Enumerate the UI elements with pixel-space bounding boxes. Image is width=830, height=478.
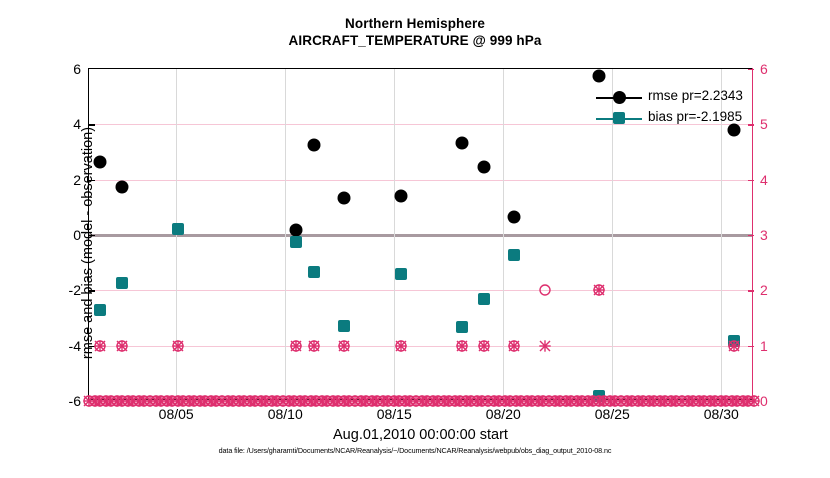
assimilated-obs-cross-icon bbox=[531, 395, 544, 408]
right-axis-tick-label: 2 bbox=[760, 282, 790, 298]
possible-obs-circle-icon bbox=[642, 395, 655, 408]
possible-obs-circle-icon bbox=[531, 395, 544, 408]
assimilated-obs-cross-icon bbox=[121, 395, 134, 408]
chart-title-line1: Northern Hemisphere bbox=[0, 16, 830, 31]
possible-obs-circle-icon bbox=[465, 395, 478, 408]
assimilated-obs-cross-icon bbox=[227, 395, 240, 408]
bias-data-point bbox=[508, 249, 520, 261]
bias-data-point bbox=[593, 390, 605, 402]
assimilated-obs-cross-icon bbox=[421, 395, 434, 408]
possible-obs-circle-icon bbox=[559, 395, 572, 408]
possible-obs-circle-icon bbox=[537, 395, 550, 408]
chart-title-line2: AIRCRAFT_TEMPERATURE @ 999 hPa bbox=[0, 33, 830, 48]
possible-obs-circle-icon bbox=[116, 395, 129, 408]
possible-obs-circle-icon bbox=[193, 395, 206, 408]
assimilated-obs-cross-icon bbox=[559, 395, 572, 408]
right-axis-tick-mark bbox=[748, 401, 754, 402]
right-axis-tick-mark bbox=[748, 180, 754, 181]
assimilated-obs-cross-icon bbox=[432, 395, 445, 408]
possible-obs-circle-icon bbox=[304, 395, 317, 408]
assimilated-obs-cross-icon bbox=[110, 395, 123, 408]
x-axis-tick-label: 08/30 bbox=[704, 406, 739, 422]
assimilated-obs-cross-icon bbox=[526, 395, 539, 408]
bias-data-point bbox=[172, 223, 184, 235]
assimilated-obs-cross-icon bbox=[216, 395, 229, 408]
assimilated-obs-cross-icon bbox=[548, 395, 561, 408]
possible-obs-circle-icon bbox=[243, 395, 256, 408]
possible-obs-circle-icon bbox=[337, 395, 350, 408]
left-axis-tick-label: 2 bbox=[43, 172, 81, 188]
assimilated-obs-cross-icon bbox=[360, 395, 373, 408]
gridline-vertical bbox=[285, 69, 286, 399]
possible-obs-circle-icon bbox=[437, 395, 450, 408]
left-axis-tick-label: 4 bbox=[43, 116, 81, 132]
assimilated-obs-cross-icon bbox=[243, 395, 256, 408]
assimilated-obs-cross-icon bbox=[631, 395, 644, 408]
possible-obs-circle-icon bbox=[454, 395, 467, 408]
assimilated-obs-cross-icon bbox=[304, 395, 317, 408]
plot-area: -6-4-20246 0123456 08/0508/1008/1508/200… bbox=[88, 68, 753, 400]
possible-obs-circle-icon bbox=[520, 395, 533, 408]
legend-label-rmse: rmse pr=2.2343 bbox=[648, 89, 743, 103]
rmse-data-point bbox=[394, 189, 407, 202]
bias-data-point bbox=[308, 266, 320, 278]
data-file-caption: data file: /Users/gharamti/Documents/NCA… bbox=[0, 446, 830, 455]
possible-obs-circle-icon bbox=[343, 395, 356, 408]
assimilated-obs-cross-icon bbox=[659, 395, 672, 408]
possible-obs-circle-icon bbox=[349, 395, 362, 408]
possible-obs-circle-icon bbox=[204, 395, 217, 408]
bias-data-point bbox=[395, 268, 407, 280]
possible-obs-circle-icon bbox=[199, 395, 212, 408]
assimilated-obs-cross-icon bbox=[454, 395, 467, 408]
rmse-data-point bbox=[307, 139, 320, 152]
assimilated-obs-cross-icon bbox=[576, 395, 589, 408]
assimilated-obs-cross-icon bbox=[637, 395, 650, 408]
assimilated-obs-cross-icon bbox=[537, 395, 550, 408]
assimilated-obs-cross-icon bbox=[138, 395, 151, 408]
assimilated-obs-cross-icon bbox=[642, 395, 655, 408]
bias-data-point bbox=[338, 320, 350, 332]
left-axis-tick-label: -6 bbox=[43, 393, 81, 409]
possible-obs-circle-icon bbox=[670, 395, 683, 408]
left-axis-tick-label: 0 bbox=[43, 227, 81, 243]
bias-data-point bbox=[290, 236, 302, 248]
gridline-horizontal bbox=[89, 290, 752, 291]
assimilated-obs-cross-icon bbox=[326, 395, 339, 408]
possible-obs-circle-icon bbox=[132, 395, 145, 408]
right-axis-tick-label: 5 bbox=[760, 116, 790, 132]
assimilated-obs-cross-icon bbox=[675, 395, 688, 408]
assimilated-obs-cross-icon bbox=[426, 395, 439, 408]
zero-reference-line bbox=[89, 234, 752, 237]
possible-obs-circle-icon bbox=[653, 395, 666, 408]
assimilated-obs-cross-icon bbox=[681, 395, 694, 408]
possible-obs-circle-icon bbox=[421, 395, 434, 408]
possible-obs-circle-icon bbox=[659, 395, 672, 408]
right-axis-tick-label: 6 bbox=[760, 61, 790, 77]
assimilated-obs-cross-icon bbox=[193, 395, 206, 408]
possible-obs-circle-icon bbox=[227, 395, 240, 408]
possible-obs-circle-icon bbox=[542, 395, 555, 408]
assimilated-obs-cross-icon bbox=[349, 395, 362, 408]
right-axis-tick-mark bbox=[748, 346, 754, 347]
right-axis-spine bbox=[752, 68, 753, 401]
bias-data-point bbox=[116, 277, 128, 289]
assimilated-obs-cross-icon bbox=[315, 395, 328, 408]
possible-obs-circle-icon bbox=[554, 395, 567, 408]
assimilated-obs-cross-icon bbox=[520, 395, 533, 408]
assimilated-obs-cross-icon bbox=[321, 395, 334, 408]
assimilated-obs-cross-icon bbox=[204, 395, 217, 408]
possible-obs-circle-icon bbox=[675, 395, 688, 408]
assimilated-obs-cross-icon bbox=[664, 395, 677, 408]
assimilated-obs-cross-icon bbox=[542, 395, 555, 408]
assimilated-obs-cross-icon bbox=[221, 395, 234, 408]
possible-obs-circle-icon bbox=[232, 395, 245, 408]
assimilated-obs-cross-icon bbox=[343, 395, 356, 408]
bias-data-point bbox=[456, 321, 468, 333]
assimilated-obs-cross-icon bbox=[249, 395, 262, 408]
right-axis-tick-mark bbox=[748, 124, 754, 125]
possible-obs-circle-icon bbox=[315, 395, 328, 408]
gridline-vertical bbox=[503, 69, 504, 399]
assimilated-obs-cross-icon bbox=[554, 395, 567, 408]
possible-obs-circle-icon bbox=[448, 395, 461, 408]
possible-obs-circle-icon bbox=[354, 395, 367, 408]
rmse-data-point bbox=[290, 224, 303, 237]
rmse-data-point bbox=[115, 181, 128, 194]
right-axis-tick-mark bbox=[748, 235, 754, 236]
possible-obs-circle-icon bbox=[127, 395, 140, 408]
possible-obs-circle-icon bbox=[470, 395, 483, 408]
assimilated-obs-cross-icon bbox=[99, 395, 112, 408]
assimilated-obs-cross-icon bbox=[465, 395, 478, 408]
gridline-vertical bbox=[394, 69, 395, 399]
assimilated-obs-cross-icon bbox=[648, 395, 661, 408]
legend-label-bias: bias pr=-2.1985 bbox=[648, 110, 742, 124]
x-axis-tick-label: 08/10 bbox=[268, 406, 303, 422]
possible-obs-circle-icon bbox=[254, 395, 267, 408]
assimilated-obs-cross-icon bbox=[105, 395, 118, 408]
assimilated-obs-cross-icon bbox=[337, 395, 350, 408]
right-axis-tick-label: 0 bbox=[760, 393, 790, 409]
gridline-horizontal bbox=[89, 346, 752, 347]
possible-obs-circle-icon bbox=[426, 395, 439, 408]
legend-item-bias[interactable]: bias pr=-2.1985 bbox=[596, 108, 748, 129]
legend-marker-bias-square-icon bbox=[613, 112, 625, 124]
x-axis-tick-label: 08/25 bbox=[595, 406, 630, 422]
possible-obs-circle-icon bbox=[326, 395, 339, 408]
assimilated-obs-cross-icon bbox=[238, 395, 251, 408]
possible-obs-circle-icon bbox=[459, 395, 472, 408]
possible-obs-circle-icon bbox=[332, 395, 345, 408]
assimilated-obs-cross-icon bbox=[459, 395, 472, 408]
possible-obs-circle-icon bbox=[687, 395, 700, 408]
chart-legend: rmse pr=2.2343 bias pr=-2.1985 bbox=[596, 87, 748, 129]
left-axis-tick-label: -4 bbox=[43, 338, 81, 354]
x-axis-tick-label: 08/20 bbox=[486, 406, 521, 422]
possible-obs-circle-icon bbox=[210, 395, 223, 408]
left-axis-tick-label: 6 bbox=[43, 61, 81, 77]
assimilated-obs-cross-icon bbox=[310, 395, 323, 408]
possible-obs-circle-icon bbox=[249, 395, 262, 408]
assimilated-obs-cross-icon bbox=[232, 395, 245, 408]
possible-obs-circle-icon bbox=[526, 395, 539, 408]
legend-marker-rmse-circle-icon bbox=[613, 91, 626, 104]
left-axis-tick-label: -2 bbox=[43, 282, 81, 298]
assimilated-obs-cross-icon bbox=[127, 395, 140, 408]
gridline-horizontal bbox=[89, 180, 752, 181]
possible-obs-circle-icon bbox=[121, 395, 134, 408]
right-axis-tick-label: 1 bbox=[760, 338, 790, 354]
rmse-data-point bbox=[593, 69, 606, 82]
right-axis-tick-mark bbox=[748, 69, 754, 70]
possible-obs-circle-icon bbox=[631, 395, 644, 408]
possible-obs-circle-icon bbox=[432, 395, 445, 408]
assimilated-obs-cross-icon bbox=[687, 395, 700, 408]
possible-obs-circle-icon bbox=[360, 395, 373, 408]
assimilated-obs-cross-icon bbox=[332, 395, 345, 408]
assimilated-obs-cross-icon bbox=[437, 395, 450, 408]
assimilated-obs-cross-icon bbox=[565, 395, 578, 408]
rmse-data-point bbox=[455, 137, 468, 150]
figure-canvas: Northern Hemisphere AIRCRAFT_TEMPERATURE… bbox=[0, 0, 830, 470]
right-axis-tick-label: 3 bbox=[760, 227, 790, 243]
x-axis-label: Aug.01,2010 00:00:00 start bbox=[89, 427, 752, 443]
bias-data-point bbox=[728, 335, 740, 347]
x-axis-tick-label: 08/05 bbox=[159, 406, 194, 422]
rmse-data-point bbox=[338, 192, 351, 205]
possible-obs-circle-icon bbox=[637, 395, 650, 408]
assimilated-obs-cross-icon bbox=[415, 395, 428, 408]
possible-obs-circle-icon bbox=[565, 395, 578, 408]
assimilated-obs-cross-icon bbox=[570, 395, 583, 408]
assimilated-obs-cross-icon bbox=[443, 395, 456, 408]
x-axis-tick-label: 08/15 bbox=[377, 406, 412, 422]
assimilated-obs-cross-icon bbox=[254, 395, 267, 408]
rmse-data-point bbox=[477, 161, 490, 174]
possible-obs-circle-icon bbox=[570, 395, 583, 408]
right-axis-tick-label: 4 bbox=[760, 172, 790, 188]
legend-item-rmse[interactable]: rmse pr=2.2343 bbox=[596, 87, 748, 108]
assimilated-obs-cross-icon bbox=[199, 395, 212, 408]
possible-obs-circle-icon bbox=[143, 395, 156, 408]
assimilated-obs-cross-icon bbox=[670, 395, 683, 408]
assimilated-obs-cross-icon bbox=[470, 395, 483, 408]
possible-obs-circle-icon bbox=[443, 395, 456, 408]
possible-obs-circle-icon bbox=[110, 395, 123, 408]
possible-obs-circle-icon bbox=[648, 395, 661, 408]
bias-data-point bbox=[478, 293, 490, 305]
possible-obs-circle-icon bbox=[99, 395, 112, 408]
assimilated-obs-cross-icon bbox=[354, 395, 367, 408]
possible-obs-circle-icon bbox=[105, 395, 118, 408]
possible-obs-circle-icon bbox=[310, 395, 323, 408]
possible-obs-circle-icon bbox=[221, 395, 234, 408]
rmse-data-point bbox=[508, 211, 521, 224]
possible-obs-circle-icon bbox=[216, 395, 229, 408]
assimilated-obs-cross-icon bbox=[143, 395, 156, 408]
possible-obs-circle-icon bbox=[664, 395, 677, 408]
possible-obs-circle-icon bbox=[238, 395, 251, 408]
possible-obs-circle-icon bbox=[576, 395, 589, 408]
assimilated-obs-cross-icon bbox=[653, 395, 666, 408]
assimilated-obs-cross-icon bbox=[210, 395, 223, 408]
assimilated-obs-cross-icon bbox=[448, 395, 461, 408]
possible-obs-circle-icon bbox=[321, 395, 334, 408]
possible-obs-circle-icon bbox=[138, 395, 151, 408]
y-axis-label-left: rmse and bias (model - observation) bbox=[80, 8, 96, 478]
assimilated-obs-cross-icon bbox=[116, 395, 129, 408]
possible-obs-circle-icon bbox=[548, 395, 561, 408]
assimilated-obs-cross-icon bbox=[132, 395, 145, 408]
possible-obs-circle-icon bbox=[415, 395, 428, 408]
possible-obs-circle-icon bbox=[681, 395, 694, 408]
right-axis-tick-mark bbox=[748, 290, 754, 291]
